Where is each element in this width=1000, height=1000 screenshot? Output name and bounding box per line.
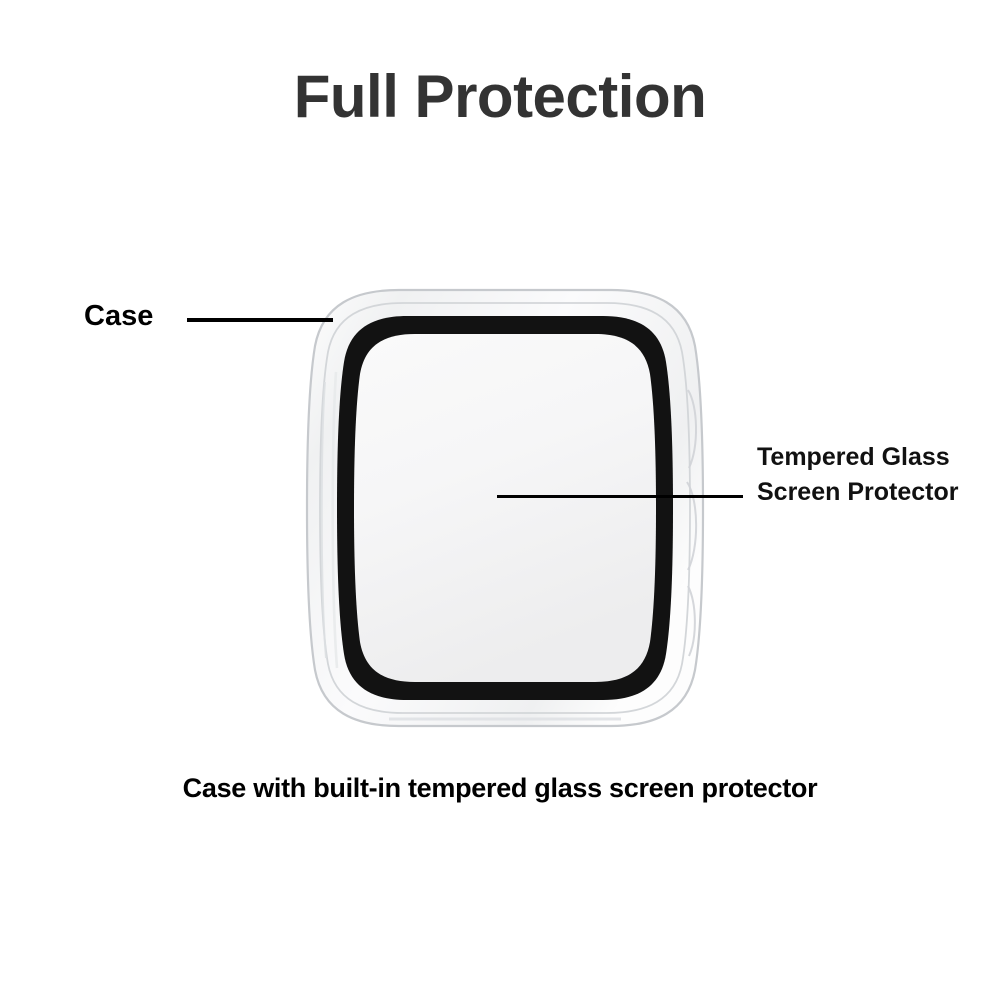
callout-label-tempered-glass-line2: Screen Protector	[757, 475, 958, 510]
bottom-caption: Case with built-in tempered glass screen…	[0, 772, 1000, 804]
callout-label-tempered-glass-line1: Tempered Glass	[757, 440, 958, 475]
infographic-canvas: Full Protection	[0, 0, 1000, 1000]
page-title: Full Protection	[0, 62, 1000, 131]
product-illustration	[303, 286, 707, 730]
callout-label-tempered-glass: Tempered Glass Screen Protector	[757, 440, 958, 509]
leader-line-tempered-glass	[497, 495, 743, 498]
leader-line-case	[187, 318, 333, 322]
callout-label-case: Case	[84, 302, 153, 331]
tempered-glass-screen	[354, 334, 656, 682]
